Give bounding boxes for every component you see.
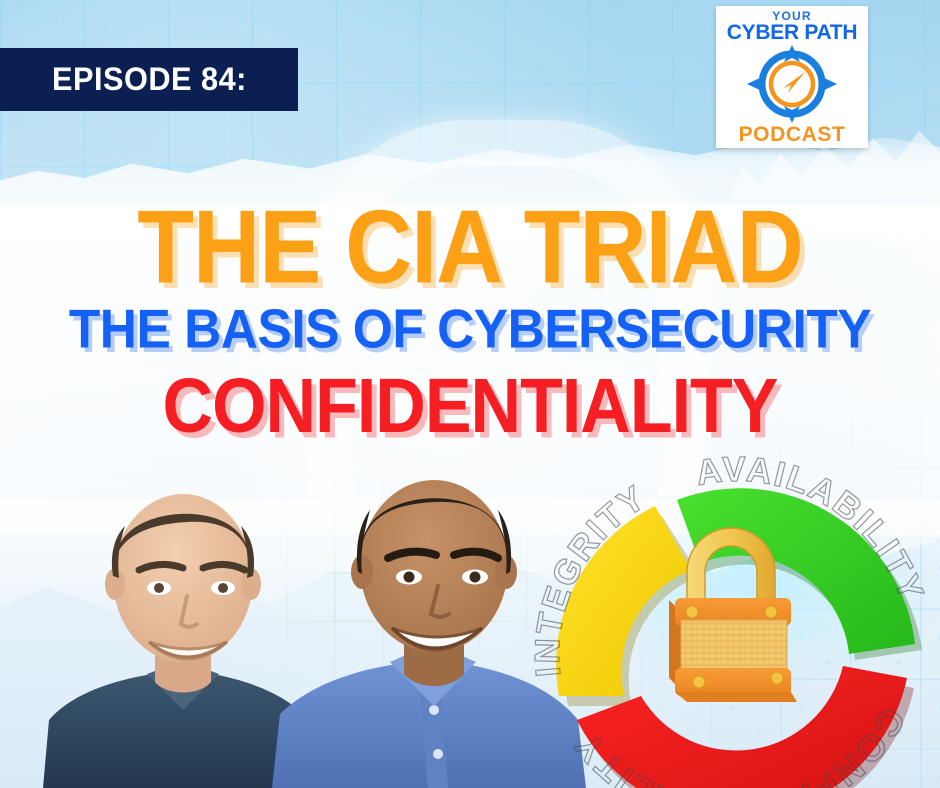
compass-icon	[747, 45, 837, 123]
podcast-episode-poster: EPISODE 84: YOUR CYBER PATH PODCAST THE …	[0, 0, 940, 788]
page-title: THE CIA TRIAD	[0, 195, 940, 299]
logo-brand-text: CYBER PATH	[727, 22, 857, 44]
logo-podcast-text: PODCAST	[739, 124, 846, 146]
padlock-icon	[651, 520, 811, 705]
episode-badge-label: EPISODE 84:	[52, 61, 247, 98]
page-subtitle: THE BASIS OF CYBERSECURITY	[5, 302, 936, 357]
episode-badge: EPISODE 84:	[0, 48, 298, 111]
podcast-logo[interactable]: YOUR CYBER PATH PODCAST	[716, 6, 868, 148]
headline-block: THE CIA TRIAD THE BASIS OF CYBERSECURITY…	[0, 195, 940, 437]
